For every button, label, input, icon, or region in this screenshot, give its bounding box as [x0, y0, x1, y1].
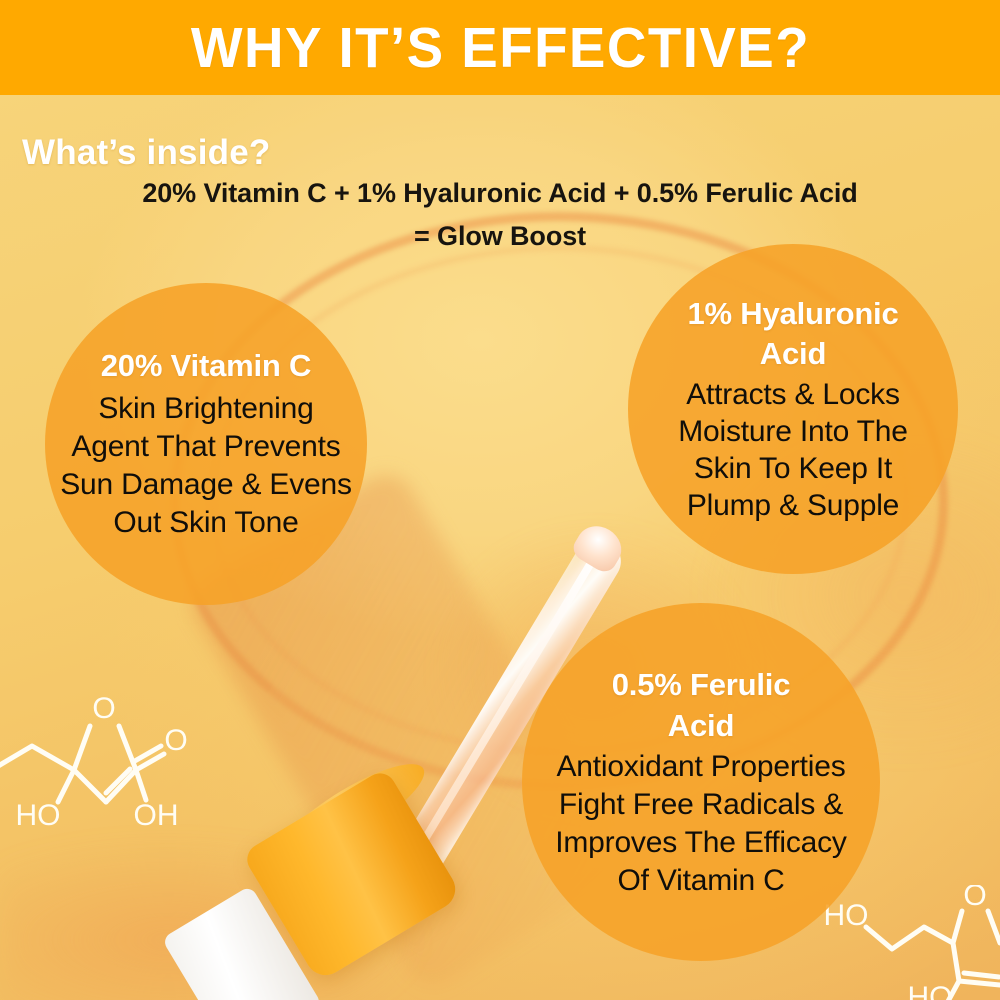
- formula-line-1: 20% Vitamin C + 1% Hyaluronic Acid + 0.5…: [0, 172, 1000, 215]
- page-title: WHY IT’S EFFECTIVE?: [190, 15, 809, 81]
- ingredient-circle-vitamin-c: 20% Vitamin C Skin Brightening Agent Tha…: [45, 283, 367, 605]
- formula-line-2: = Glow Boost: [0, 215, 1000, 258]
- ingredient-title-vitamin-c: 20% Vitamin C: [101, 346, 311, 386]
- ingredient-circle-ferulic-acid: 0.5% Ferulic Acid Antioxidant Properties…: [522, 603, 880, 961]
- whats-inside-label: What’s inside?: [22, 133, 270, 173]
- ingredient-description-hyaluronic-acid: Attracts & Locks Moisture Into The Skin …: [678, 376, 908, 524]
- ingredient-circle-hyaluronic-acid: 1% Hyaluronic Acid Attracts & Locks Mois…: [628, 244, 958, 574]
- infographic-poster: O O HO OH HO O HO WHY IT’S EFFECTIVE? Wh…: [0, 0, 1000, 1000]
- ingredient-title-ferulic-acid: 0.5% Ferulic Acid: [612, 664, 791, 746]
- ingredient-title-hyaluronic-acid: 1% Hyaluronic Acid: [687, 294, 898, 374]
- ingredient-description-vitamin-c: Skin Brightening Agent That Prevents Sun…: [60, 390, 352, 542]
- header-banner: WHY IT’S EFFECTIVE?: [0, 0, 1000, 95]
- background-highlight-bottom-left: [0, 840, 420, 1000]
- ingredient-description-ferulic-acid: Antioxidant Properties Fight Free Radica…: [555, 748, 846, 900]
- ingredient-formula: 20% Vitamin C + 1% Hyaluronic Acid + 0.5…: [0, 172, 1000, 258]
